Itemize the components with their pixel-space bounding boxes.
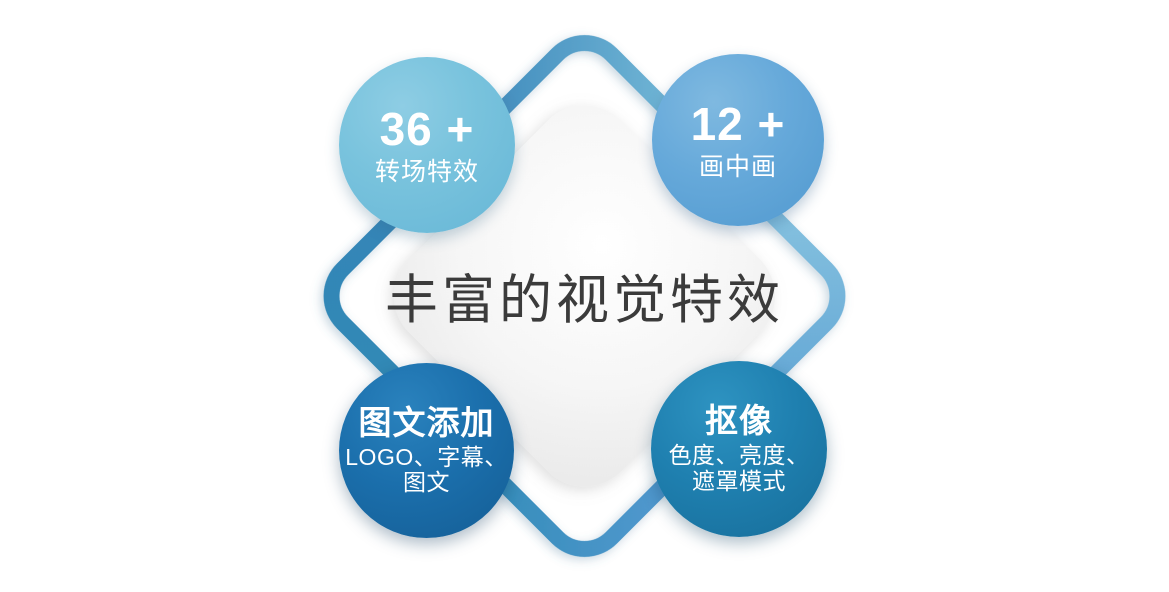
node-bubble-keying[interactable]: 抠像 色度、亮度、 遮罩模式 [651, 361, 827, 537]
infographic-canvas: 丰富的视觉特效 36 + 转场特效 12 + 画中画 图文添加 LOGO、字幕、… [0, 0, 1169, 592]
node-title-transitions: 36 + [380, 104, 475, 156]
node-title-keying: 抠像 [705, 403, 773, 440]
node-subtitle-line2-text-graphic: 图文 [403, 470, 450, 496]
node-subtitle-line1-keying: 色度、亮度、 [669, 443, 810, 469]
center-title: 丰富的视觉特效 [0, 258, 1169, 334]
node-title-picture-in-picture: 12 + [691, 99, 786, 151]
node-subtitle-picture-in-picture: 画中画 [699, 153, 777, 181]
node-title-text-graphic: 图文添加 [359, 405, 495, 442]
node-bubble-text-graphic[interactable]: 图文添加 LOGO、字幕、 图文 [339, 363, 514, 538]
node-bubble-picture-in-picture[interactable]: 12 + 画中画 [652, 54, 824, 226]
node-bubble-transitions[interactable]: 36 + 转场特效 [339, 57, 515, 233]
node-subtitle-transitions: 转场特效 [375, 158, 479, 186]
node-subtitle-line2-keying: 遮罩模式 [692, 469, 786, 495]
node-subtitle-line1-text-graphic: LOGO、字幕、 [345, 445, 507, 471]
